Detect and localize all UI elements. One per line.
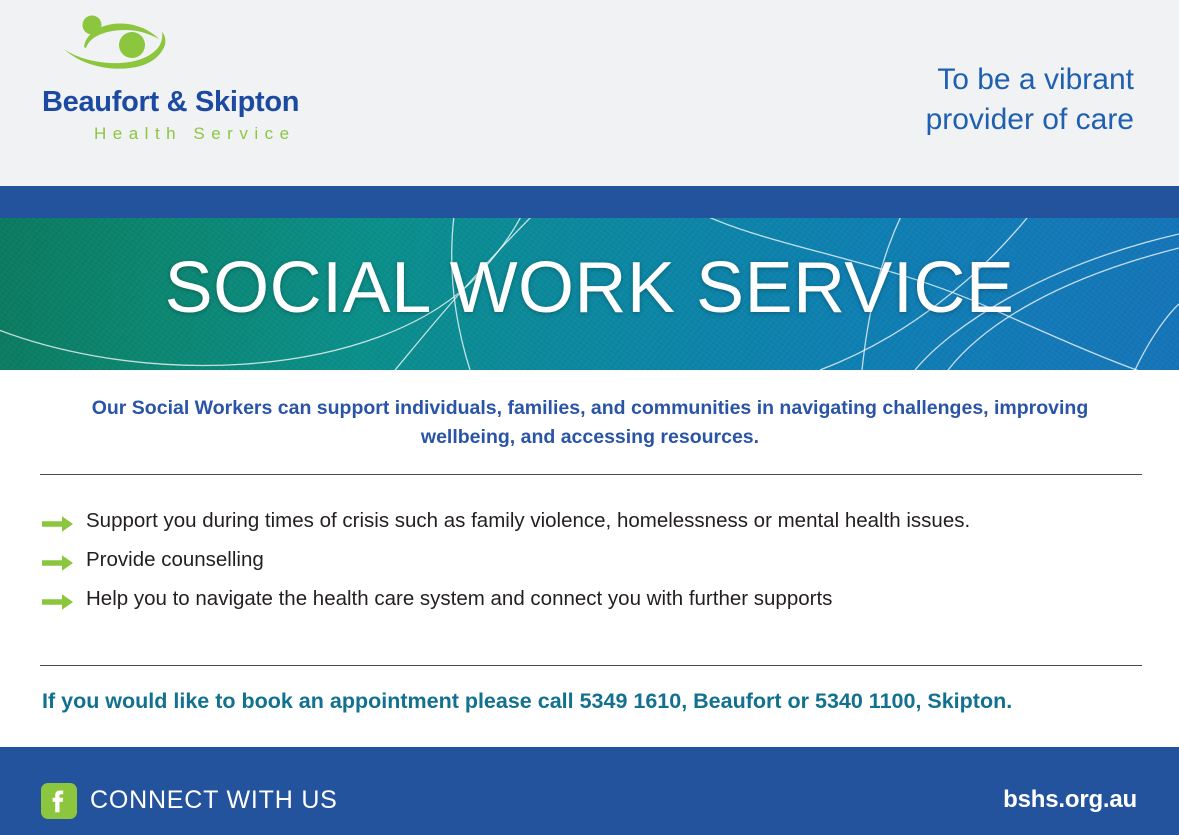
page-header: Beaufort & Skipton Health Service To be … [0,0,1179,186]
divider-bottom [40,665,1142,666]
booking-call-to-action: If you would like to book an appointment… [42,686,1152,716]
facebook-icon[interactable] [41,783,77,819]
header-divider-bar [0,186,1179,218]
list-item-label: Support you during times of crisis such … [86,508,970,534]
tagline: To be a vibrant provider of care [714,60,1134,140]
list-item-label: Help you to navigate the health care sys… [86,586,832,612]
service-list: Support you during times of crisis such … [42,508,1142,625]
divider-top [40,474,1142,475]
facebook-f-glyph [41,783,77,819]
connect-with-us-label: CONNECT WITH US [90,786,338,815]
tagline-line-1: To be a vibrant [714,60,1134,100]
two-figures-swoosh-logo-icon [62,14,182,72]
list-item: Support you during times of crisis such … [42,508,1142,535]
title-banner: SOCIAL WORK SERVICE [0,218,1179,370]
intro-paragraph: Our Social Workers can support individua… [90,394,1090,452]
green-right-arrow-icon [42,513,74,535]
organisation-subtitle: Health Service [94,124,296,144]
organisation-name: Beaufort & Skipton [42,86,299,119]
list-item: Help you to navigate the health care sys… [42,586,1142,613]
green-right-arrow-icon [42,591,74,613]
intro-line-1: Our Social Workers can support individua… [92,397,989,419]
organisation-logo: Beaufort & Skipton Health Service [42,14,342,144]
website-url[interactable]: bshs.org.au [1003,786,1137,814]
list-item: Provide counselling [42,547,1142,574]
list-item-label: Provide counselling [86,547,264,573]
flyer-page: Beaufort & Skipton Health Service To be … [0,0,1179,835]
green-right-arrow-icon [42,552,74,574]
banner-title: SOCIAL WORK SERVICE [0,248,1179,328]
tagline-line-2: provider of care [714,100,1134,140]
